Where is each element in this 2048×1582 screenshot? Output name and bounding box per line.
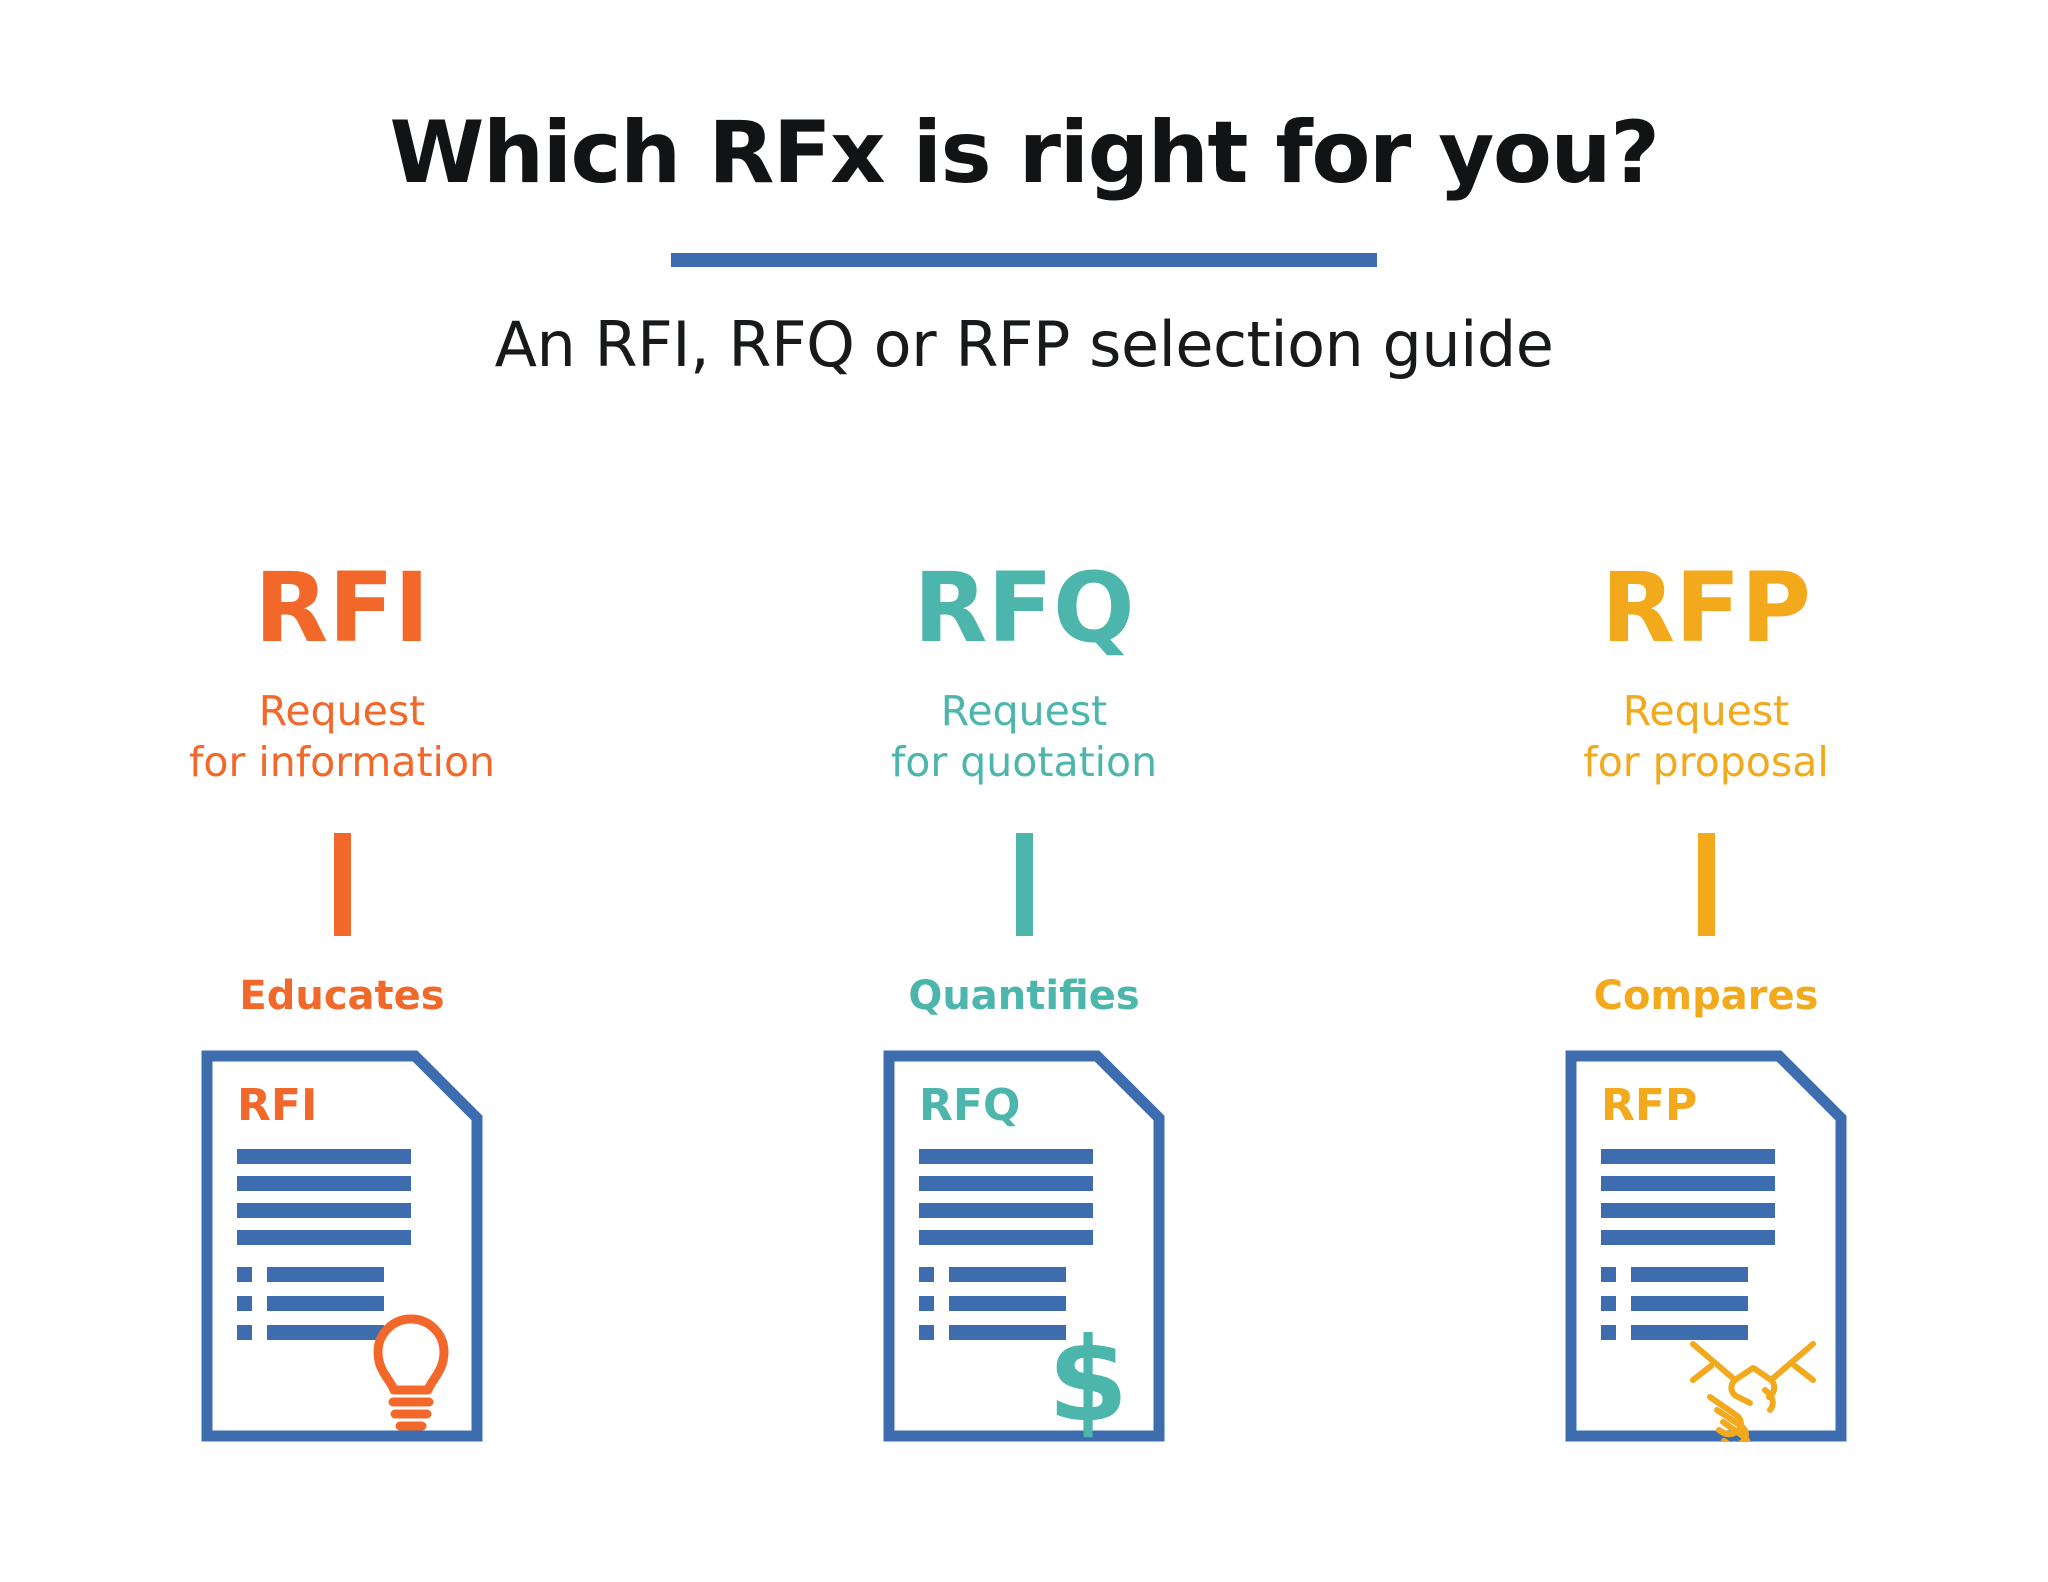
- acronym-rfi: RFI: [254, 560, 429, 656]
- bullet-text-line: [949, 1296, 1066, 1311]
- page-subtitle: An RFI, RFQ or RFP selection guide: [0, 267, 2048, 376]
- acronym-rfq: RFQ: [913, 560, 1134, 656]
- title-divider-rule: [671, 253, 1377, 267]
- bullet-square: [919, 1296, 934, 1311]
- verb-rfp: Compares: [1594, 976, 1819, 1016]
- expansion-line-2: for quotation: [891, 737, 1157, 788]
- connector-bar-rfi: [334, 833, 351, 936]
- column-rfp: RFP Request for proposal Compares RFP: [1365, 560, 2047, 1442]
- column-rfi: RFI Request for information Educates RFI: [1, 560, 683, 1442]
- document-icon-rfp: RFP: [1565, 1050, 1847, 1442]
- bullet-text-line: [1631, 1296, 1748, 1311]
- document-icon-rfi: RFI: [201, 1050, 483, 1442]
- bullet-text-line: [949, 1267, 1066, 1282]
- bullet-square: [919, 1325, 934, 1340]
- document-icon-rfq: RFQ $: [883, 1050, 1165, 1442]
- connector-bar-rfp: [1698, 833, 1715, 936]
- text-line: [919, 1149, 1093, 1164]
- text-line: [1601, 1149, 1775, 1164]
- text-line: [237, 1230, 411, 1245]
- bullet-square: [919, 1267, 934, 1282]
- bullet-text-line: [267, 1267, 384, 1282]
- text-line: [919, 1176, 1093, 1191]
- bullet-text-line: [267, 1325, 384, 1340]
- header: Which RFx is right for you? An RFI, RFQ …: [0, 0, 2048, 376]
- text-line: [919, 1230, 1093, 1245]
- bullet-square: [1601, 1267, 1616, 1282]
- bullet-square: [237, 1296, 252, 1311]
- column-rfq: RFQ Request for quotation Quantifies RFQ: [683, 560, 1365, 1442]
- expansion-rfp: Request for proposal: [1583, 686, 1828, 789]
- text-line: [237, 1176, 411, 1191]
- expansion-rfq: Request for quotation: [891, 686, 1157, 789]
- bullet-text-line: [267, 1296, 384, 1311]
- text-line: [1601, 1176, 1775, 1191]
- text-line: [237, 1203, 411, 1218]
- document-shape-rfq: RFQ $: [883, 1050, 1165, 1442]
- text-line: [237, 1149, 411, 1164]
- bullet-square: [1601, 1296, 1616, 1311]
- expansion-line-1: Request: [1583, 686, 1828, 737]
- acronym-rfp: RFP: [1601, 560, 1811, 656]
- connector-bar-rfq: [1016, 833, 1033, 936]
- bullet-square: [237, 1267, 252, 1282]
- expansion-line-1: Request: [891, 686, 1157, 737]
- bullet-text-line: [1631, 1267, 1748, 1282]
- document-label-rfq: RFQ: [919, 1080, 1020, 1131]
- document-shape-rfi: RFI: [201, 1050, 483, 1442]
- expansion-rfi: Request for information: [189, 686, 495, 789]
- document-label-rfi: RFI: [237, 1080, 317, 1131]
- verb-rfq: Quantifies: [908, 976, 1139, 1016]
- document-label-rfp: RFP: [1601, 1080, 1697, 1131]
- expansion-line-2: for proposal: [1583, 737, 1828, 788]
- text-line: [919, 1203, 1093, 1218]
- verb-rfi: Educates: [239, 976, 444, 1016]
- document-shape-rfp: RFP: [1565, 1050, 1847, 1442]
- rfx-comparison-columns: RFI Request for information Educates RFI: [0, 560, 2048, 1442]
- expansion-line-1: Request: [189, 686, 495, 737]
- text-line: [1601, 1230, 1775, 1245]
- bullet-text-line: [1631, 1325, 1748, 1340]
- expansion-line-2: for information: [189, 737, 495, 788]
- page-title: Which RFx is right for you?: [0, 0, 2048, 196]
- bullet-square: [1601, 1325, 1616, 1340]
- text-line: [1601, 1203, 1775, 1218]
- dollar-sign-icon: $: [1048, 1313, 1129, 1442]
- bullet-square: [237, 1325, 252, 1340]
